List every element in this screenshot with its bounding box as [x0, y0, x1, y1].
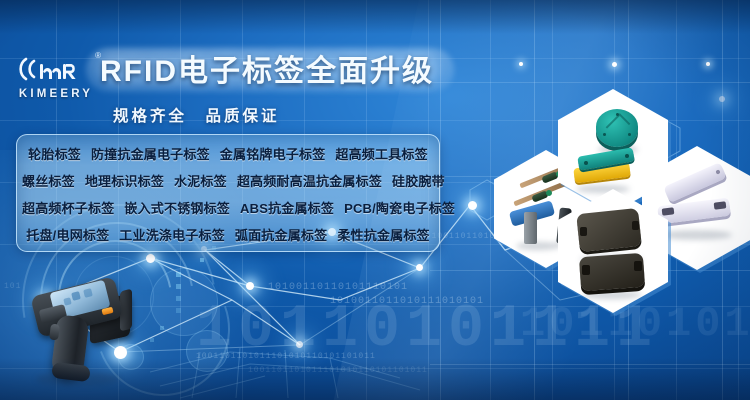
- top-fade: [0, 0, 750, 34]
- vignette-overlay: [0, 0, 750, 400]
- bottom-fade: [0, 358, 750, 400]
- rfid-product-banner: 10110101111 1011010111 10100110110101110…: [0, 0, 750, 400]
